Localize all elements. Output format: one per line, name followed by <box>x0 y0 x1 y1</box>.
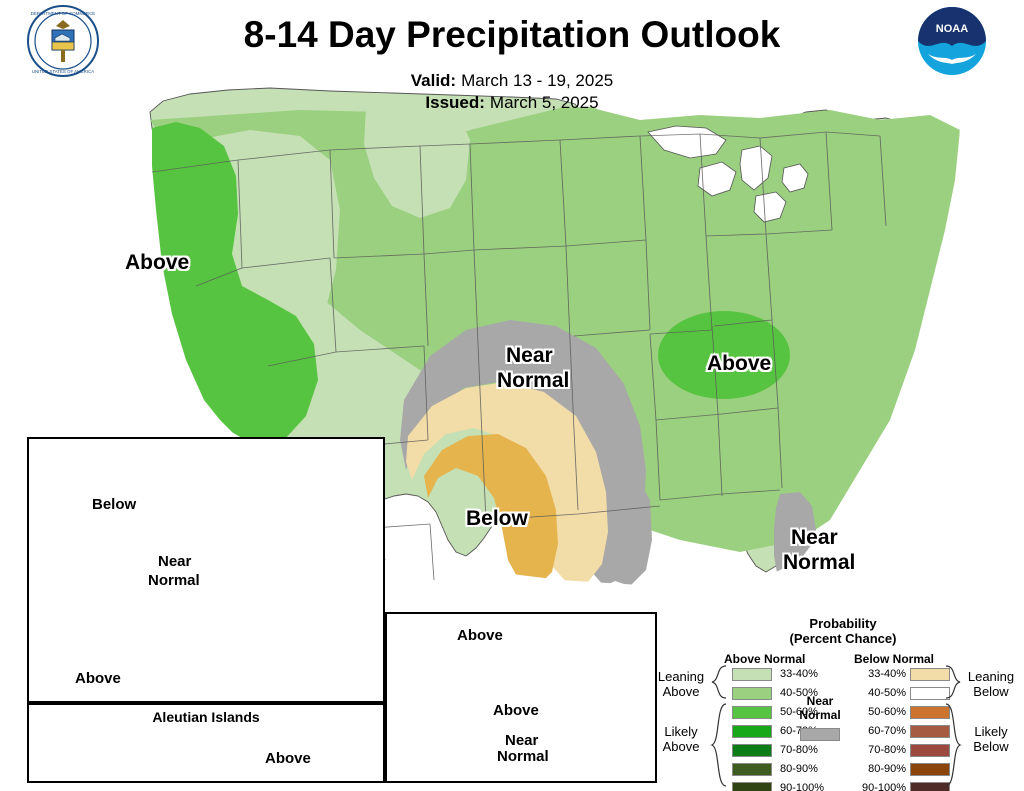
leaning-below-line1: Leaning <box>956 669 1024 684</box>
likely-below-bracket-icon <box>944 702 962 788</box>
leaning-above-line1: Leaning <box>646 669 716 684</box>
svg-text:UNITED STATES OF AMERICA: UNITED STATES OF AMERICA <box>32 69 94 74</box>
date-block: Valid:March 13 - 19, 2025 Issued:March 5… <box>0 70 1024 114</box>
likely-above-line1: Likely <box>648 724 714 739</box>
alaska-map-label: Near <box>158 551 191 572</box>
legend-above-pct-33-40%: 33-40% <box>780 668 818 681</box>
conus-map-label: Above <box>125 252 189 273</box>
leaning-below-line2: Below <box>956 684 1024 699</box>
legend-below-pct-40-50%: 40-50% <box>850 687 906 700</box>
alaska-map-label: Above <box>75 668 121 689</box>
conus-map-label: Normal <box>783 552 855 573</box>
hawaii-map-label: Above <box>493 700 539 721</box>
legend-above-swatch-80-90% <box>732 763 772 776</box>
legend-above-swatch-33-40% <box>732 668 772 681</box>
legend-above-swatch-90-100% <box>732 782 772 791</box>
legend-below-pct-60-70%: 60-70% <box>850 725 906 738</box>
legend-above-pct-70-80%: 70-80% <box>780 744 818 757</box>
legend-likely-below-label: Likely Below <box>958 724 1024 754</box>
legend-below-pct-90-100%: 90-100% <box>850 782 906 791</box>
legend-near-normal-line2: Normal <box>790 708 850 722</box>
likely-above-line2: Above <box>648 739 714 754</box>
legend-near-normal-line1: Near <box>790 694 850 708</box>
issued-value: March 5, 2025 <box>485 93 599 112</box>
alaska-map-label: Normal <box>148 570 200 591</box>
conus-map-label: Below <box>466 508 528 529</box>
aleutian-inset-panel: Aleutian Islands <box>27 703 385 783</box>
legend-near-normal-label: Near Normal <box>790 694 850 722</box>
conus-map-label: Above <box>707 353 771 374</box>
leaning-above-line2: Above <box>646 684 716 699</box>
legend-leaning-above-label: Leaning Above <box>646 669 716 699</box>
conus-map-label: Normal <box>497 370 569 391</box>
issued-label: Issued: <box>425 93 485 112</box>
legend-leaning-below-label: Leaning Below <box>956 669 1024 699</box>
aleutian-map-label: Above <box>265 748 311 769</box>
legend-above-swatch-50-60% <box>732 706 772 719</box>
alaska-inset-panel <box>27 437 385 703</box>
conus-map-label: Near <box>791 527 838 548</box>
legend-above-swatch-40-50% <box>732 687 772 700</box>
valid-label: Valid: <box>411 71 456 90</box>
valid-row: Valid:March 13 - 19, 2025 <box>0 70 1024 92</box>
legend-above-header: Above Normal <box>724 652 805 666</box>
legend-below-pct-70-80%: 70-80% <box>850 744 906 757</box>
legend-above-swatch-70-80% <box>732 744 772 757</box>
likely-above-bracket-icon <box>710 702 728 788</box>
legend-near-normal-swatch <box>800 728 840 741</box>
legend-title-line1: Probability <box>698 616 988 631</box>
legend-below-header: Below Normal <box>854 652 934 666</box>
hawaii-map-label: Normal <box>497 746 549 767</box>
legend-likely-above-label: Likely Above <box>648 724 714 754</box>
legend-above-pct-80-90%: 80-90% <box>780 763 818 776</box>
legend-below-pct-50-60%: 50-60% <box>850 706 906 719</box>
noaa-logo-icon: NOAA <box>912 2 992 80</box>
department-of-commerce-seal-icon: DEPARTMENT OF COMMERCE UNITED STATES OF … <box>22 2 104 80</box>
hawaii-map-label: Above <box>457 625 503 646</box>
likely-below-line1: Likely <box>958 724 1024 739</box>
alaska-map-label: Below <box>92 494 136 515</box>
svg-text:DEPARTMENT OF COMMERCE: DEPARTMENT OF COMMERCE <box>31 11 95 16</box>
likely-below-line2: Below <box>958 739 1024 754</box>
precipitation-outlook-page: Aleutian Islands 8-14 Day Precipitation … <box>0 0 1024 791</box>
legend-below-pct-80-90%: 80-90% <box>850 763 906 776</box>
legend-below-pct-33-40%: 33-40% <box>850 668 906 681</box>
legend-title: Probability (Percent Chance) <box>698 616 988 646</box>
svg-text:NOAA: NOAA <box>936 23 968 35</box>
legend-above-pct-90-100%: 90-100% <box>780 782 824 791</box>
conus-map-label: Near <box>506 345 553 366</box>
valid-value: March 13 - 19, 2025 <box>456 71 613 90</box>
legend: Probability (Percent Chance) Above Norma… <box>648 616 1024 791</box>
leaning-below-bracket-icon <box>944 664 962 700</box>
aleutian-panel-title: Aleutian Islands <box>29 709 383 725</box>
issued-row: Issued:March 5, 2025 <box>0 92 1024 114</box>
leaning-above-bracket-icon <box>710 664 728 700</box>
page-title: 8-14 Day Precipitation Outlook <box>0 14 1024 56</box>
legend-title-line2: (Percent Chance) <box>698 631 988 646</box>
legend-above-swatch-60-70% <box>732 725 772 738</box>
